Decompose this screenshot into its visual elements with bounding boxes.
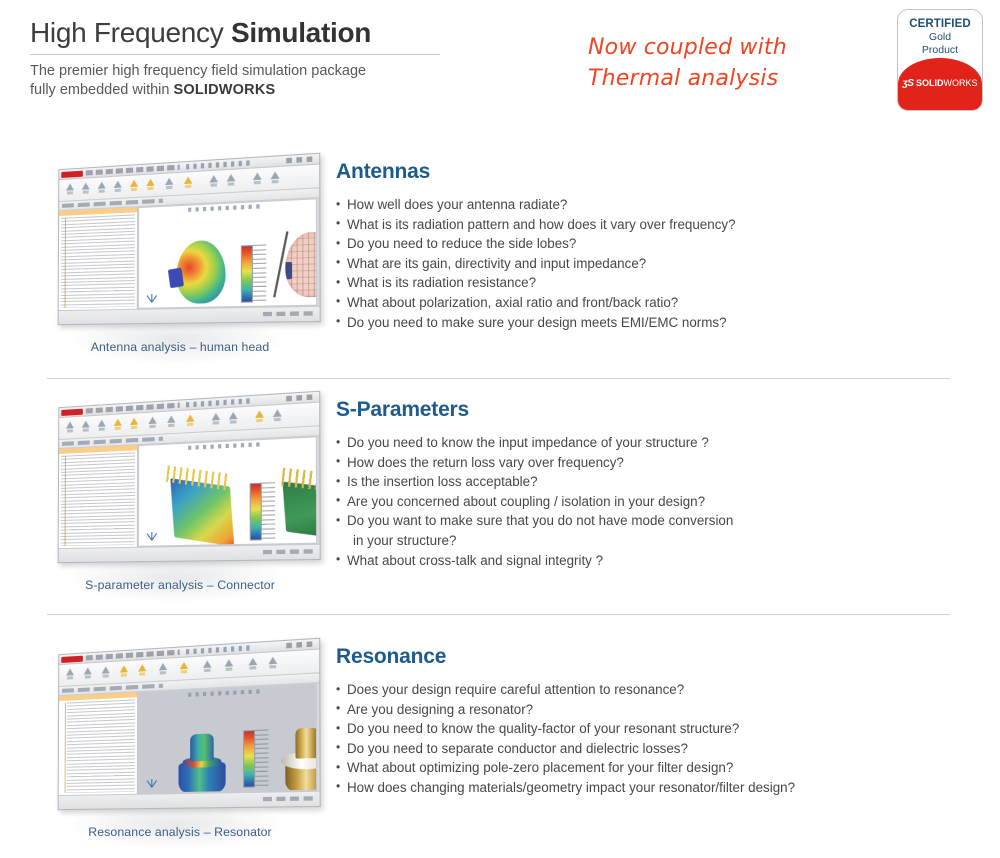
badge-red-panel: ʒS SOLIDWORKS bbox=[898, 58, 982, 111]
subtitle-line-2: fully embedded within SOLIDWORKS bbox=[30, 81, 450, 100]
graphics-viewport bbox=[138, 683, 317, 793]
list-item: What about optimizing pole-zero placemen… bbox=[336, 758, 956, 778]
antennas-heading: Antennas bbox=[336, 160, 956, 184]
window-controls bbox=[286, 394, 315, 401]
app-logo-icon bbox=[61, 655, 83, 662]
view-toolbar bbox=[188, 204, 264, 212]
s-parameter-caption: S-parameter analysis – Connector bbox=[44, 578, 316, 592]
solidworks-window-thumbnail bbox=[58, 391, 321, 564]
list-item: Do you need to know the input impedance … bbox=[336, 433, 956, 453]
list-item: How well does your antenna radiate? bbox=[336, 195, 956, 215]
view-toolbar bbox=[188, 442, 264, 450]
page-title-bold: Simulation bbox=[231, 17, 371, 48]
status-bar bbox=[59, 306, 320, 324]
connector-cad-model bbox=[282, 482, 317, 540]
quick-access-toolbar bbox=[186, 398, 251, 407]
list-item: What about polarization, axial ratio and… bbox=[336, 293, 956, 313]
app-logo-icon bbox=[61, 408, 83, 415]
page-header: High Frequency Simulation The premier hi… bbox=[0, 0, 1000, 140]
section-divider-1 bbox=[47, 378, 950, 379]
resonance-heading: Resonance bbox=[336, 645, 956, 669]
antennas-text-block: Antennas How well does your antenna radi… bbox=[336, 160, 956, 332]
graphics-viewport bbox=[138, 436, 317, 546]
list-item: Is the insertion loss acceptable? bbox=[336, 472, 956, 492]
head-mesh-model bbox=[285, 231, 317, 298]
list-item: What is its radiation pattern and how do… bbox=[336, 215, 956, 235]
list-item: Does your design require careful attenti… bbox=[336, 680, 956, 700]
view-toolbar bbox=[188, 689, 264, 697]
title-block: High Frequency Simulation The premier hi… bbox=[30, 16, 450, 100]
results-color-legend bbox=[243, 730, 255, 788]
results-table-panel bbox=[59, 207, 138, 310]
coupled-with-thermal-note: Now coupled with Thermal analysis bbox=[588, 32, 848, 94]
list-item: What about cross-talk and signal integri… bbox=[336, 551, 956, 571]
orientation-triad-icon bbox=[145, 526, 160, 541]
s-parameters-bullet-list: Do you need to know the input impedance … bbox=[336, 433, 956, 570]
page-title: High Frequency Simulation bbox=[30, 16, 450, 50]
status-bar bbox=[59, 791, 320, 809]
resonance-text-block: Resonance Does your design require caref… bbox=[336, 645, 956, 798]
list-item: How does the return loss vary over frequ… bbox=[336, 453, 956, 473]
quick-access-toolbar bbox=[186, 645, 251, 654]
panel-rows bbox=[61, 452, 135, 546]
list-item: Do you need to reduce the side lobes? bbox=[336, 234, 956, 254]
resonance-bullet-list: Does your design require careful attenti… bbox=[336, 680, 956, 798]
list-item: How does changing materials/geometry imp… bbox=[336, 778, 956, 798]
list-item: Do you need to know the quality-factor o… bbox=[336, 719, 956, 739]
s-parameters-heading: S-Parameters bbox=[336, 398, 956, 422]
resonator-plot-post bbox=[190, 733, 214, 761]
resonance-analysis-screenshot: Resonance analysis – Resonator bbox=[44, 650, 316, 850]
page-subtitle: The premier high frequency field simulat… bbox=[30, 62, 450, 100]
list-item: Are you designing a resonator? bbox=[336, 700, 956, 720]
page-title-light: High Frequency bbox=[30, 17, 231, 48]
status-bar bbox=[59, 544, 320, 562]
head-sar-plot bbox=[176, 240, 225, 304]
badge-gold-label: Gold bbox=[898, 31, 982, 44]
resonator-modal-plot bbox=[178, 733, 225, 793]
coupled-note-line-1: Now coupled with bbox=[588, 32, 848, 63]
resonance-caption: Resonance analysis – Resonator bbox=[44, 825, 316, 839]
list-item-continuation: in your structure? bbox=[336, 531, 956, 551]
antennas-bullet-list: How well does your antenna radiate? What… bbox=[336, 195, 956, 332]
s-parameters-text-block: S-Parameters Do you need to know the inp… bbox=[336, 398, 956, 570]
section-divider-2 bbox=[47, 614, 950, 615]
list-item: What are its gain, directivity and input… bbox=[336, 254, 956, 274]
app-logo-icon bbox=[61, 170, 83, 177]
orientation-triad-icon bbox=[145, 773, 160, 788]
list-item: Do you want to make sure that you do not… bbox=[336, 511, 956, 531]
resonator-cad-post bbox=[295, 728, 317, 759]
antenna-analysis-screenshot: Antenna analysis – human head bbox=[44, 165, 316, 365]
solidworks-logo-works: WORKS bbox=[943, 78, 977, 88]
feature-tree-panel bbox=[59, 692, 138, 795]
subtitle-line-2-text: fully embedded within bbox=[30, 82, 173, 98]
panel-rows bbox=[67, 699, 135, 793]
solidworks-window-thumbnail bbox=[58, 153, 321, 326]
list-item: Do you need to make sure your design mee… bbox=[336, 313, 956, 333]
solidworks-logo-solid: SOLID bbox=[916, 78, 944, 88]
connector-field-plot bbox=[170, 478, 234, 546]
results-color-legend bbox=[250, 483, 262, 541]
window-controls bbox=[286, 156, 315, 163]
badge-certified-label: CERTIFIED bbox=[898, 18, 982, 31]
orientation-triad-icon bbox=[145, 288, 160, 303]
coupled-note-line-2: Thermal analysis bbox=[588, 63, 848, 94]
solidworks-window-thumbnail bbox=[58, 638, 321, 811]
panel-rows bbox=[61, 214, 135, 308]
results-color-legend bbox=[241, 245, 253, 303]
subtitle-line-1: The premier high frequency field simulat… bbox=[30, 62, 450, 81]
solidworks-logo: ʒS SOLIDWORKS bbox=[898, 78, 982, 89]
results-table-panel bbox=[59, 445, 138, 548]
solidworks-certified-gold-product-badge: CERTIFIED Gold Product ʒS SOLIDWORKS bbox=[897, 9, 983, 111]
window-controls bbox=[286, 641, 315, 648]
badge-product-label: Product bbox=[898, 44, 982, 57]
list-item: Do you need to separate conductor and di… bbox=[336, 739, 956, 759]
resonator-cad-model bbox=[281, 727, 318, 791]
title-divider bbox=[30, 54, 440, 55]
graphics-viewport bbox=[138, 198, 317, 308]
s-parameter-analysis-screenshot: S-parameter analysis – Connector bbox=[44, 403, 316, 603]
solidworks-wordmark: SOLIDWORKS bbox=[173, 82, 275, 98]
list-item: Are you concerned about coupling / isola… bbox=[336, 492, 956, 512]
badge-text-block: CERTIFIED Gold Product bbox=[898, 10, 982, 64]
list-item: What is its radiation resistance? bbox=[336, 273, 956, 293]
quick-access-toolbar bbox=[186, 160, 251, 169]
antenna-caption: Antenna analysis – human head bbox=[44, 340, 316, 354]
dassault-systemes-logo-icon: ʒS bbox=[903, 78, 914, 89]
